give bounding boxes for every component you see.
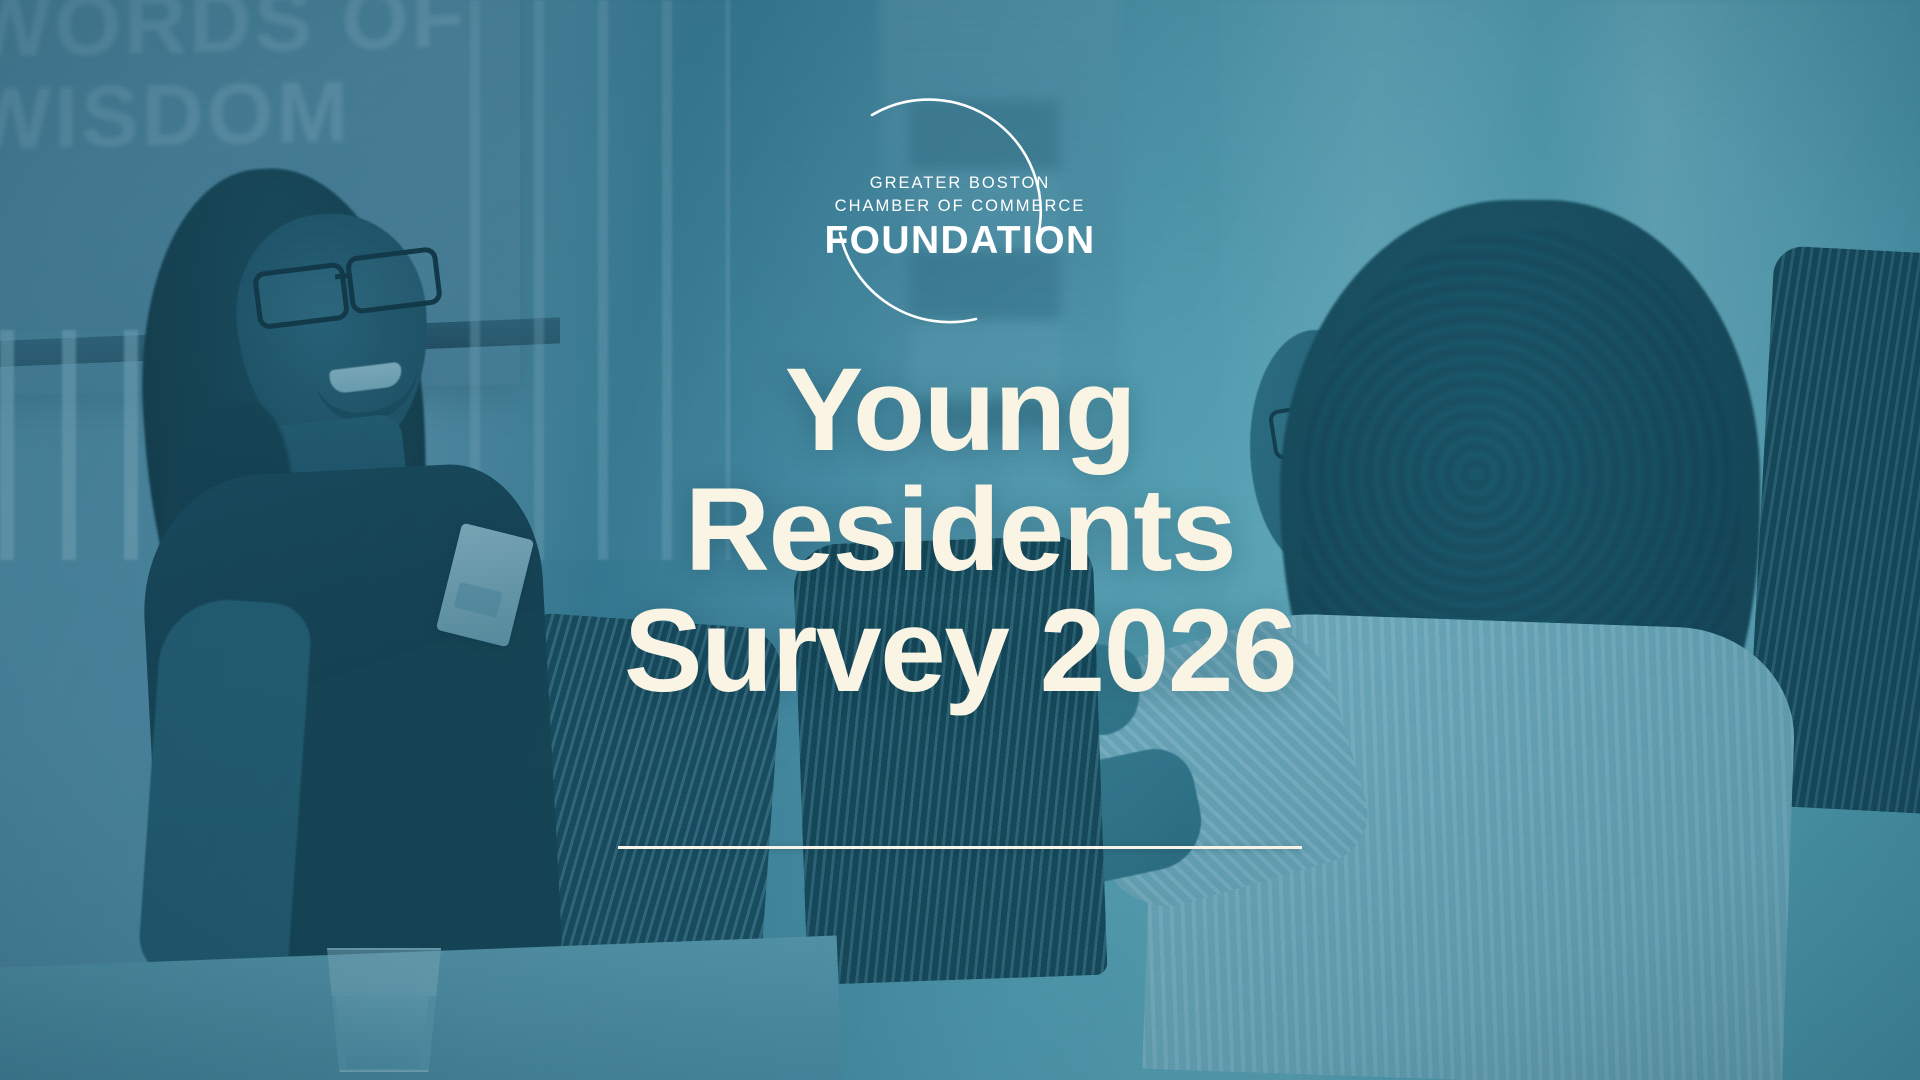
title-line-2: Residents bbox=[624, 470, 1296, 590]
logo-line-1: GREATER BOSTON bbox=[810, 172, 1110, 195]
logo-line-2: CHAMBER OF COMMERCE bbox=[810, 195, 1110, 218]
logo: GREATER BOSTON CHAMBER OF COMMERCE FOUND… bbox=[810, 76, 1110, 336]
title-line-1: Young bbox=[624, 350, 1296, 470]
promotional-poster: WORDS OF WISDOM bbox=[0, 0, 1920, 1080]
title-line-3: Survey 2026 bbox=[624, 591, 1296, 711]
title-divider bbox=[618, 846, 1302, 849]
poster-content: GREATER BOSTON CHAMBER OF COMMERCE FOUND… bbox=[0, 0, 1920, 1080]
logo-line-3: FOUNDATION bbox=[810, 221, 1110, 262]
page-title: Young Residents Survey 2026 bbox=[624, 350, 1296, 711]
logo-wordmark: GREATER BOSTON CHAMBER OF COMMERCE FOUND… bbox=[810, 172, 1110, 262]
